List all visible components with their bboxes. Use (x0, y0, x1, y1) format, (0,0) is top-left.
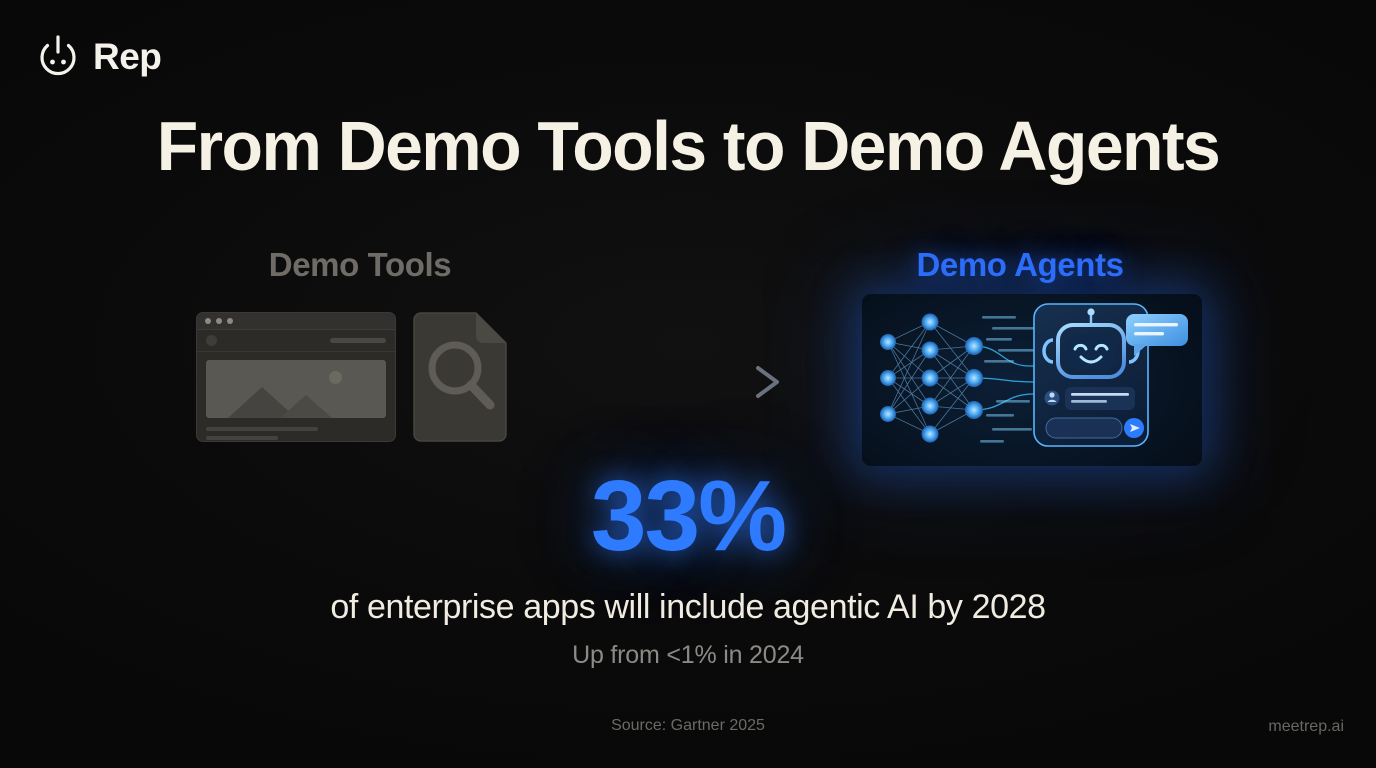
toolbar-pill-placeholder (330, 338, 386, 343)
text-placeholder-line (206, 427, 318, 431)
stat-caption: of enterprise apps will include agentic … (0, 588, 1376, 627)
browser-titlebar (197, 313, 395, 330)
traffic-light-dot (205, 318, 211, 324)
slide-canvas: Rep From Demo Tools to Demo Agents Demo … (0, 0, 1376, 768)
document-magnifier-icon (410, 312, 510, 442)
stat-percentage: 33% (0, 466, 1376, 566)
mountain-shape (280, 395, 332, 418)
chat-input-row (1046, 418, 1144, 438)
sun-shape (329, 371, 342, 384)
toolbar-circle-icon (206, 335, 217, 346)
column-label-demo-agents: Demo Agents (830, 248, 1210, 281)
comparison-row: Demo Tools Demo Agents (0, 232, 1376, 472)
text-placeholder-line (206, 436, 278, 440)
stat-block: 33% of enterprise apps will include agen… (0, 466, 1376, 670)
traffic-light-dot (216, 318, 222, 324)
column-label-demo-tools: Demo Tools (170, 248, 550, 281)
brand-logo[interactable]: Rep (34, 32, 161, 80)
source-attribution: Source: Gartner 2025 (0, 717, 1376, 735)
arrow-right-icon (596, 362, 796, 402)
stat-subtext: Up from <1% in 2024 (0, 641, 1376, 670)
browser-window-mockup-icon (196, 312, 396, 442)
browser-toolbar (197, 330, 395, 352)
demo-tools-illustration (196, 312, 510, 442)
neural-network-chatbot-illustration (862, 294, 1202, 466)
site-url: meetrep.ai (1268, 718, 1344, 736)
network-nodes (880, 314, 983, 443)
brand-name: Rep (93, 38, 161, 75)
rep-robot-power-icon (34, 32, 82, 80)
traffic-light-dot (227, 318, 233, 324)
page-title: From Demo Tools to Demo Agents (21, 106, 1356, 186)
speech-bubble-icon (1126, 314, 1188, 356)
image-placeholder-icon (206, 360, 386, 418)
data-readout-marks (980, 316, 1036, 443)
